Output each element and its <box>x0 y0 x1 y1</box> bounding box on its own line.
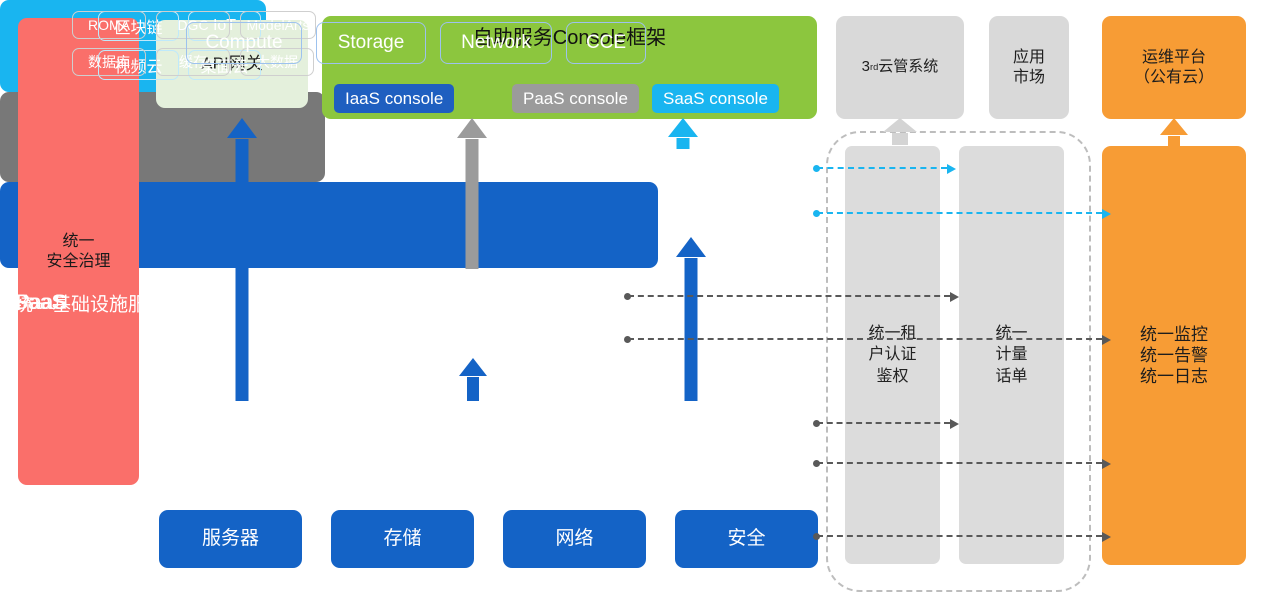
unified-metering-column: 统一 计量 话单 <box>959 146 1064 564</box>
arrow-head <box>1160 118 1188 135</box>
iaas-console-chip[interactable]: IaaS console <box>334 84 454 113</box>
ops-platform-monitoring-panel: 统一监控 统一告警 统一日志 <box>1102 146 1246 565</box>
dash-arrow-tip <box>950 292 959 302</box>
dash-arrow-tip <box>950 419 959 429</box>
arrow-saas-to-saas-console <box>668 119 698 149</box>
arrow-shaft <box>1168 136 1180 147</box>
dash-origin-dot <box>624 336 631 343</box>
ops-platform-public-cloud-box: 运维平台 （公有云） <box>1102 16 1246 119</box>
unified-tenant-auth-column: 统一租 户认证 鉴权 <box>845 146 940 564</box>
app-market-box: 应用 市场 <box>989 16 1069 119</box>
iaas-chip-cce[interactable]: CCE <box>566 22 646 64</box>
iaas-chip-network[interactable]: Network <box>440 22 552 64</box>
arrow-head <box>457 118 487 138</box>
dashed-saas-to-ops <box>817 212 1102 214</box>
security-governance-panel: 统一 安全治理 <box>18 18 139 485</box>
dash-origin-dot <box>813 460 820 467</box>
dash-arrow-tip <box>1102 532 1111 542</box>
dash-arrow-tip <box>1102 209 1111 219</box>
dashed-paas-to-ops <box>628 338 1102 340</box>
arrow-head <box>227 118 257 138</box>
saas-console-chip[interactable]: SaaS console <box>652 84 779 113</box>
arrow-shaft <box>892 133 908 145</box>
arrow-head <box>668 118 698 137</box>
paas-chip-database[interactable]: 数据库 <box>72 48 146 76</box>
dashed-iaas-to-auth <box>817 422 950 424</box>
arrow-iaas-to-api-gateway <box>227 119 257 401</box>
dash-origin-dot <box>813 533 820 540</box>
arrow-ops-side-to-ops-top <box>1159 119 1189 147</box>
arrow-shaft <box>677 138 690 149</box>
resource-box-storage: 存储 <box>331 510 474 568</box>
dash-origin-dot <box>813 420 820 427</box>
arrow-shaft <box>236 139 249 401</box>
dashed-iaas-to-ops <box>817 462 1102 464</box>
arrow-paas-to-console <box>457 119 487 269</box>
dash-arrow-tip <box>1102 335 1111 345</box>
arrow-shaft <box>466 139 479 269</box>
dashed-saas-to-auth <box>817 167 947 169</box>
paas-console-chip[interactable]: PaaS console <box>512 84 639 113</box>
resource-box-server: 服务器 <box>159 510 302 568</box>
dash-origin-dot <box>813 165 820 172</box>
arrow-shaft <box>467 377 479 401</box>
dash-origin-dot <box>624 293 631 300</box>
iaas-label: 统一基础设施服务 <box>14 289 166 316</box>
resource-box-security: 安全 <box>675 510 818 568</box>
third-party-cloud-mgmt-box: 3rd云管系统 <box>836 16 964 119</box>
dash-arrow-tip <box>1102 459 1111 469</box>
paas-chip-roma[interactable]: ROMA <box>72 11 146 39</box>
arrow-head <box>883 118 917 132</box>
arrow-shaft <box>685 258 698 401</box>
dashed-paas-to-auth <box>628 295 950 297</box>
third-party-ordinal-suffix: rd <box>870 62 878 74</box>
third-party-suffix: 云管系统 <box>878 58 938 77</box>
arrow-console-to-third-party <box>883 119 917 145</box>
resource-box-network: 网络 <box>503 510 646 568</box>
dash-arrow-tip <box>947 164 956 174</box>
dashed-resources-to-ops <box>817 535 1102 537</box>
arrow-head <box>676 237 706 257</box>
iaas-chip-compute[interactable]: Compute <box>186 22 302 64</box>
dash-origin-dot <box>813 210 820 217</box>
third-party-prefix: 3 <box>862 58 870 77</box>
arrow-head <box>459 358 487 376</box>
arrow-iaas-to-saas <box>676 238 706 401</box>
iaas-chip-storage[interactable]: Storage <box>316 22 426 64</box>
architecture-diagram: 统一 安全治理 API网关 自助服务Console框架 IaaS console… <box>0 0 1265 605</box>
arrow-iaas-to-paas <box>458 359 488 401</box>
